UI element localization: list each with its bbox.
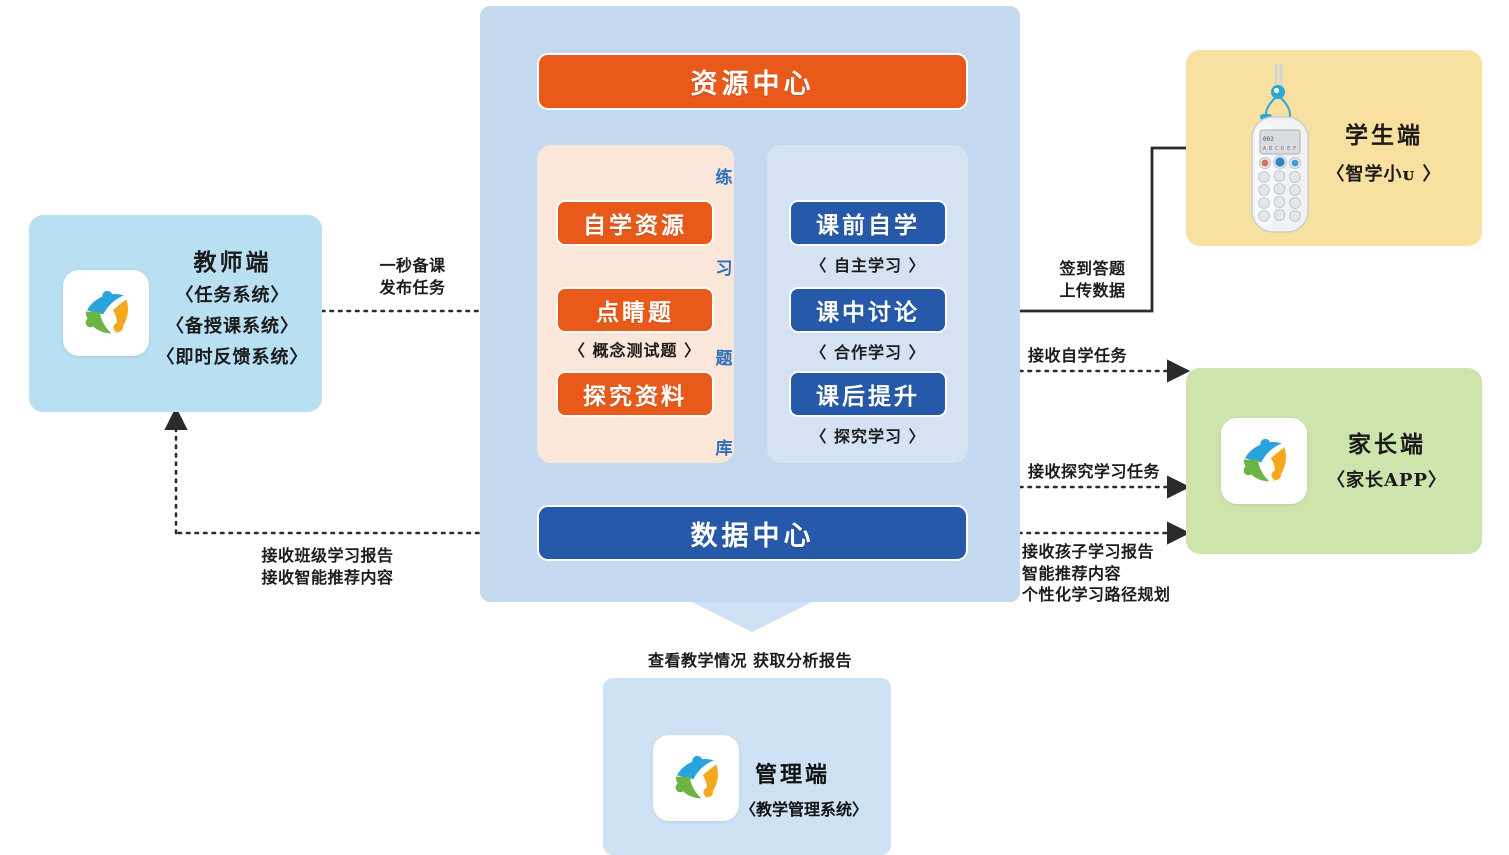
stage-item-pre-class[interactable]: 课前自学 <box>789 200 947 246</box>
resource-item-key-question[interactable]: 点睛题 <box>556 287 714 333</box>
resource-item-self-study[interactable]: 自学资源 <box>556 200 714 246</box>
stage-item-in-class[interactable]: 课中讨论 <box>789 287 947 333</box>
svg-text:002: 002 <box>1263 136 1274 143</box>
teacher-sub-1: 〈备授课系统〉 <box>150 312 315 338</box>
resource-center-label: 资源中心 <box>691 62 815 101</box>
parent-logo-tile <box>1221 418 1307 504</box>
teacher-sub-0: 〈任务系统〉 <box>150 281 315 307</box>
admin-sub: 〈教学管理系统〉 <box>740 796 895 820</box>
zhixue-logo-icon <box>1230 427 1298 495</box>
stage-item-post-class-caption: 〈 探究学习 〉 <box>769 423 967 447</box>
resource-item-label: 自学资源 <box>583 206 687 240</box>
diagram-canvas: 资源中心 练 习 题 库 自学资源 点睛题 〈 概念测试题 〉 探究资料 课前自… <box>0 0 1509 855</box>
resource-center-box[interactable]: 资源中心 <box>537 53 968 110</box>
resource-item-label: 探究资料 <box>583 377 687 411</box>
stage-item-pre-class-caption: 〈 自主学习 〉 <box>769 252 967 276</box>
resource-item-key-question-caption: 〈 概念测试题 〉 <box>536 337 734 361</box>
teacher-sub-2: 〈即时反馈系统〉 <box>150 343 315 369</box>
svg-text:A B C D E F: A B C D E F <box>1263 146 1296 152</box>
parent-sub: 〈家长APP〉 <box>1312 466 1462 492</box>
data-center-box[interactable]: 数据中心 <box>537 505 968 561</box>
stage-item-label: 课前自学 <box>816 206 920 240</box>
vertical-label-char-0: 练 <box>713 163 735 188</box>
student-sub: 〈智学小ᴜ 〉 <box>1300 160 1468 186</box>
zhixue-logo-icon <box>662 744 730 812</box>
admin-header-label: 查看教学情况 获取分析报告 <box>560 650 940 672</box>
zhixue-logo-icon <box>72 279 140 347</box>
vertical-label-char-1: 习 <box>713 254 735 279</box>
admin-title: 管理端 <box>755 757 895 789</box>
stage-item-label: 课后提升 <box>816 377 920 411</box>
stage-item-label: 课中讨论 <box>816 293 920 327</box>
edge-label-student-to-core: 签到答题 上传数据 <box>1030 258 1155 301</box>
teacher-logo-tile <box>63 270 149 356</box>
teacher-title: 教师端 <box>150 243 315 277</box>
vertical-label-char-3: 库 <box>713 434 735 459</box>
admin-logo-tile <box>653 735 739 821</box>
parent-title: 家长端 <box>1312 425 1462 459</box>
data-center-label: 数据中心 <box>691 514 815 553</box>
edge-label-data-to-parent: 接收孩子学习报告 智能推荐内容 个性化学习路径规划 <box>1022 541 1252 606</box>
student-title: 学生端 <box>1300 116 1468 150</box>
resource-item-inquiry-material[interactable]: 探究资料 <box>556 371 714 417</box>
edge-label-core-to-parent-inquiry: 接收探究学习任务 <box>1028 461 1218 483</box>
stage-item-post-class[interactable]: 课后提升 <box>789 371 947 417</box>
edge-label-core-to-parent-selfstudy: 接收自学任务 <box>1028 345 1198 367</box>
stage-item-in-class-caption: 〈 合作学习 〉 <box>769 339 967 363</box>
edge-label-teacher-to-core: 一秒备课 发布任务 <box>340 255 485 298</box>
edge-label-data-to-teacher: 接收班级学习报告 接收智能推荐内容 <box>210 545 445 588</box>
resource-item-label: 点睛题 <box>596 293 674 327</box>
